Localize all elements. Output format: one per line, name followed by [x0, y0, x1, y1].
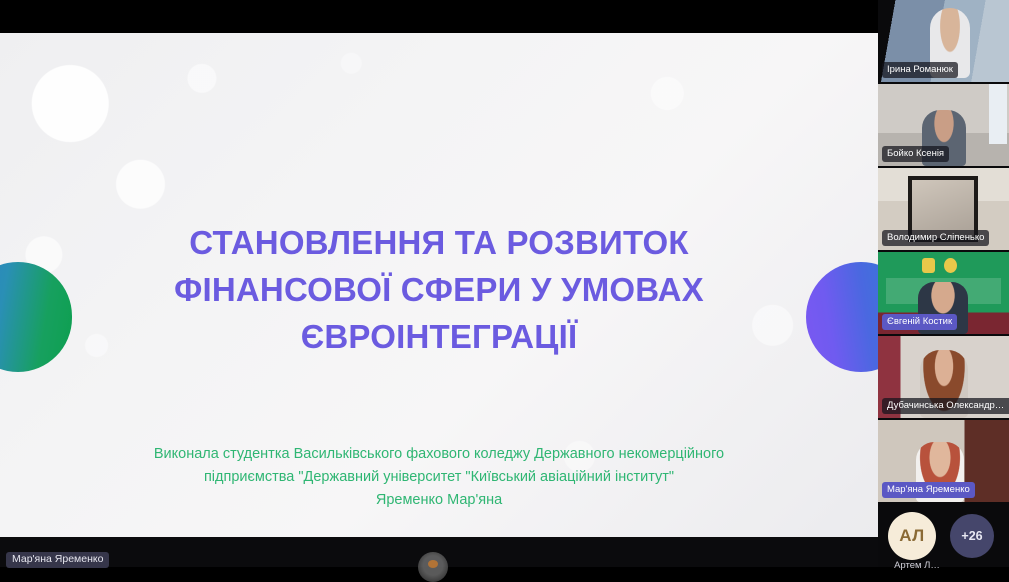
- participant-name-chip: Ірина Романюк: [882, 62, 958, 78]
- decorative-shape-right: [806, 262, 878, 372]
- participant-name-chip: Дубачинська Олександра…: [882, 398, 1009, 414]
- slide-subtitle-line-1: Виконала студентка Васильківського фахов…: [96, 443, 782, 466]
- overflow-participants-badge[interactable]: +26: [950, 514, 994, 558]
- avatar[interactable]: АЛ: [888, 512, 936, 560]
- participant-tile[interactable]: Дубачинська Олександра…: [878, 336, 1009, 418]
- participant-name-chip: Володимир Сліпенько: [882, 230, 989, 246]
- slide-subtitle: Виконала студентка Васильківського фахов…: [96, 443, 782, 512]
- decorative-shape-left: [0, 262, 72, 372]
- video-conference-window: СТАНОВЛЕННЯ ТА РОЗВИТОК ФІНАНСОВОЇ СФЕРИ…: [0, 0, 1009, 567]
- slide-title-line-2: ФІНАНСОВОЇ СФЕРИ У УМОВАХ: [96, 266, 782, 313]
- participant-name-chip: Євгеній Костик: [882, 314, 957, 330]
- participant-name-chip: Мар'яна Яременко: [882, 482, 975, 498]
- participant-name-chip: Бойко Ксенія: [882, 146, 949, 162]
- participant-filmstrip[interactable]: Ірина Романюк Бойко Ксенія Володимир Слі…: [878, 0, 1009, 567]
- participant-tile[interactable]: Бойко Ксенія: [878, 84, 1009, 166]
- participant-tile[interactable]: Володимир Сліпенько: [878, 168, 1009, 250]
- avatar-name-label: Артем Л…: [882, 560, 952, 571]
- slide-title-line-1: СТАНОВЛЕННЯ ТА РОЗВИТОК: [96, 219, 782, 266]
- participant-avatar-row[interactable]: АЛ Артем Л… +26: [878, 504, 1009, 576]
- participant-tile[interactable]: Ірина Романюк: [878, 0, 1009, 82]
- slide-subtitle-line-3: Яременко Мар'яна: [96, 489, 782, 512]
- participant-tile[interactable]: Євгеній Костик: [878, 252, 1009, 334]
- slide-title: СТАНОВЛЕННЯ ТА РОЗВИТОК ФІНАНСОВОЇ СФЕРИ…: [96, 219, 782, 360]
- slide-subtitle-line-2: підприємства "Державний університет "Киї…: [96, 466, 782, 489]
- presenter-name-chip: Мар'яна Яременко: [6, 552, 109, 568]
- shared-screen-stage[interactable]: СТАНОВЛЕННЯ ТА РОЗВИТОК ФІНАНСОВОЇ СФЕРИ…: [0, 0, 878, 567]
- presentation-slide[interactable]: СТАНОВЛЕННЯ ТА РОЗВИТОК ФІНАНСОВОЇ СФЕРИ…: [0, 33, 878, 537]
- stage-participant-orb: [418, 552, 448, 582]
- slide-title-line-3: ЄВРОІНТЕГРАЦІЇ: [96, 313, 782, 360]
- participant-tile[interactable]: Мар'яна Яременко: [878, 420, 1009, 502]
